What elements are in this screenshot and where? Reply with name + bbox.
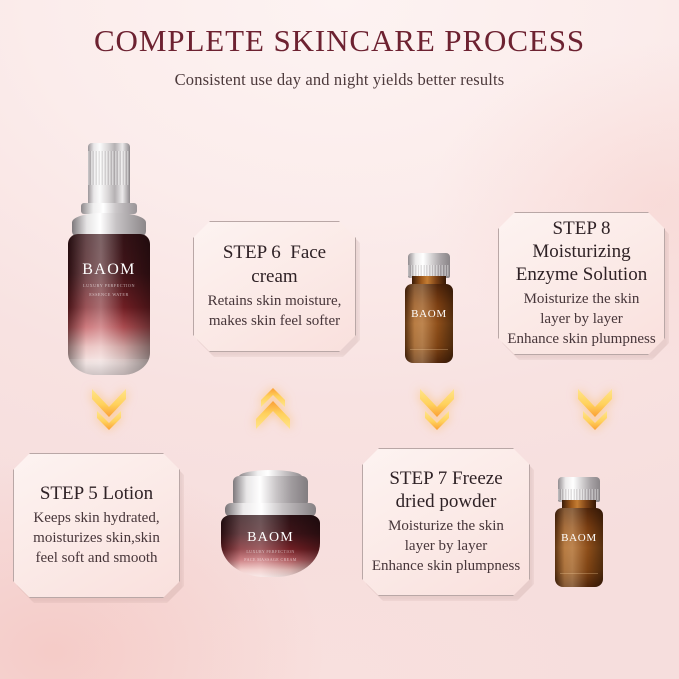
jar-label: BAOM LUXURY PERFECTION FACE MASSAGE CREA… xyxy=(221,530,320,562)
serum-body xyxy=(68,234,150,375)
serum-cap xyxy=(88,143,130,205)
card-step7-body: Moisturize the skin layer by layer Enhan… xyxy=(372,517,520,577)
page-subtitle: Consistent use day and night yields bett… xyxy=(0,70,679,90)
vial-cap xyxy=(408,253,450,278)
product-amber-vial-2: BAOM xyxy=(553,477,605,585)
chevron-down-icon xyxy=(86,383,132,435)
card-step7-body-line: Moisturize the skin xyxy=(372,517,520,537)
serum-label: BAOM LUXURY PERFECTION ESSENCE WATER xyxy=(68,261,150,297)
vial-brand-text: BAOM xyxy=(555,532,603,544)
vial-cap xyxy=(558,477,600,502)
card-step7-body-line: Enhance skin plumpness xyxy=(372,557,520,577)
jar-subtext-1: LUXURY PERFECTION xyxy=(221,549,320,554)
card-step-6: STEP 6 Facecream Retains skin moisture, … xyxy=(193,221,356,352)
card-step6-body-line: Retains skin moisture, xyxy=(208,292,342,312)
page-title: COMPLETE SKINCARE PROCESS xyxy=(0,25,679,56)
jar-subtext-2: FACE MASSAGE CREAM xyxy=(221,557,320,562)
card-step7-title: STEP 7 Freezedried powder xyxy=(389,467,502,513)
serum-brand-text: BAOM xyxy=(68,261,150,279)
card-step5-body: Keeps skin hydrated, moisturizes skin,sk… xyxy=(33,509,160,569)
chevron-down-icon xyxy=(414,383,460,435)
serum-subtext-2: ESSENCE WATER xyxy=(68,292,150,297)
vial-body xyxy=(405,284,453,363)
card-step8-body-line: Enhance skin plumpness xyxy=(507,330,655,350)
product-serum-bottle: BAOM LUXURY PERFECTION ESSENCE WATER xyxy=(57,143,162,375)
serum-subtext-1: LUXURY PERFECTION xyxy=(68,283,150,288)
card-step5-body-line: moisturizes skin,skin xyxy=(33,529,160,549)
header: COMPLETE SKINCARE PROCESS Consistent use… xyxy=(0,0,679,90)
card-step-8: STEP 8MoisturizingEnzyme Solution Moistu… xyxy=(498,212,665,355)
card-step8-title: STEP 8MoisturizingEnzyme Solution xyxy=(516,217,647,287)
card-step5-body-line: feel soft and smooth xyxy=(33,549,160,569)
vial-body xyxy=(555,508,603,587)
card-step5-title: STEP 5 Lotion xyxy=(40,482,153,505)
chevron-up-icon xyxy=(250,383,296,435)
product-cream-jar: BAOM LUXURY PERFECTION FACE MASSAGE CREA… xyxy=(213,470,328,580)
card-step-7: STEP 7 Freezedried powder Moisturize the… xyxy=(362,448,530,596)
card-step6-body-line: makes skin feel softer xyxy=(208,312,342,332)
card-step8-body: Moisturize the skin layer by layer Enhan… xyxy=(507,290,655,350)
card-step8-body-line: Moisturize the skin xyxy=(507,290,655,310)
vial-label: BAOM xyxy=(555,532,603,544)
card-step8-body-line: layer by layer xyxy=(507,310,655,330)
product-amber-vial-1: BAOM xyxy=(403,253,455,363)
card-step6-body: Retains skin moisture, makes skin feel s… xyxy=(208,292,342,332)
card-step6-title: STEP 6 Facecream xyxy=(223,241,326,287)
card-step5-body-line: Keeps skin hydrated, xyxy=(33,509,160,529)
chevron-down-icon xyxy=(572,383,618,435)
vial-label: BAOM xyxy=(405,308,453,320)
card-step-5: STEP 5 Lotion Keeps skin hydrated, moist… xyxy=(13,453,180,598)
vial-brand-text: BAOM xyxy=(405,308,453,320)
jar-brand-text: BAOM xyxy=(221,530,320,546)
card-step7-body-line: layer by layer xyxy=(372,537,520,557)
